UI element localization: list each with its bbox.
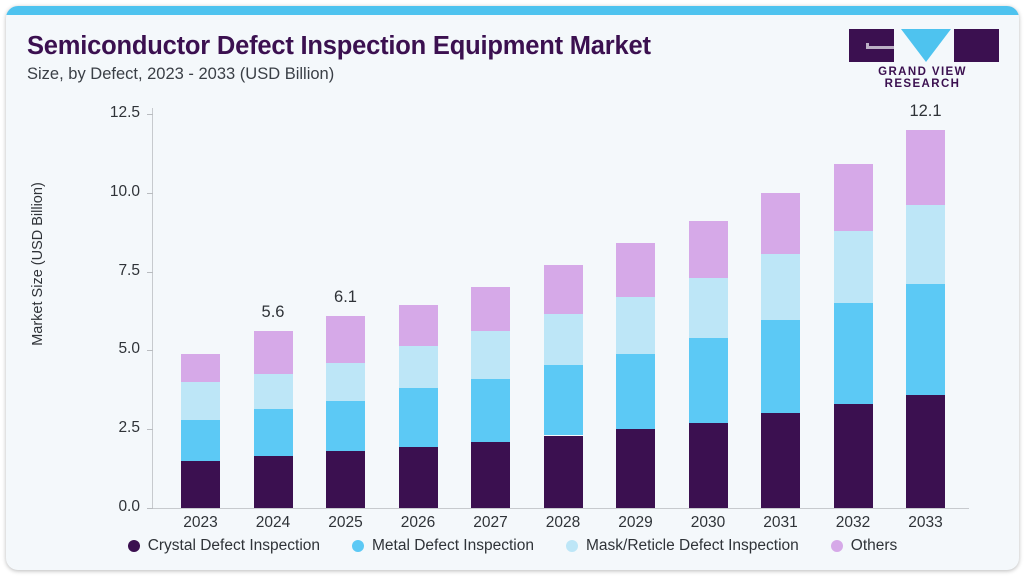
bar-value-label: 12.1 [886, 102, 966, 121]
bar-segment[interactable] [906, 284, 945, 394]
bar-group[interactable] [326, 6, 365, 508]
bar-segment[interactable] [254, 456, 293, 508]
bar-segment[interactable] [544, 365, 583, 436]
x-axis-tick-label: 2033 [886, 514, 966, 532]
y-axis-tick-mark [147, 272, 153, 273]
x-axis-tick-label: 2023 [161, 514, 241, 532]
bar-group[interactable] [616, 6, 655, 508]
bar-segment[interactable] [181, 382, 220, 420]
x-axis-tick-label: 2032 [813, 514, 893, 532]
legend-label: Mask/Reticle Defect Inspection [586, 537, 799, 555]
bar-segment[interactable] [906, 130, 945, 206]
bar-segment[interactable] [254, 374, 293, 409]
bar-segment[interactable] [399, 305, 438, 346]
bar-group[interactable] [399, 6, 438, 508]
bar-group[interactable] [181, 6, 220, 508]
bar-segment[interactable] [471, 331, 510, 378]
legend-color-dot-icon [352, 540, 364, 552]
bar-segment[interactable] [616, 354, 655, 430]
x-axis-tick-label: 2030 [668, 514, 748, 532]
y-axis-tick-label: 10.0 [80, 183, 140, 201]
y-axis-tick-label: 5.0 [80, 340, 140, 358]
legend-color-dot-icon [128, 540, 140, 552]
legend-label: Metal Defect Inspection [372, 537, 534, 555]
bar-segment[interactable] [834, 404, 873, 508]
bar-segment[interactable] [471, 287, 510, 331]
bar-segment[interactable] [326, 451, 365, 508]
bar-segment[interactable] [761, 413, 800, 508]
x-axis-tick-label: 2024 [233, 514, 313, 532]
legend-label: Crystal Defect Inspection [148, 537, 320, 555]
y-axis-tick-mark [147, 350, 153, 351]
bar-value-label: 6.1 [306, 288, 386, 307]
y-axis-tick-mark [147, 429, 153, 430]
chart-plot-area: Market Size (USD Billion) 0.02.55.07.510… [6, 6, 1019, 570]
legend-label: Others [851, 537, 898, 555]
y-axis-tick-mark [147, 193, 153, 194]
bar-segment[interactable] [399, 346, 438, 389]
x-axis-tick-label: 2031 [741, 514, 821, 532]
bar-segment[interactable] [616, 243, 655, 297]
bar-segment[interactable] [689, 278, 728, 338]
x-axis-tick-label: 2029 [596, 514, 676, 532]
y-axis-tick-label: 12.5 [80, 104, 140, 122]
y-axis-tick-mark [147, 508, 153, 509]
x-axis-line [152, 508, 969, 509]
legend-color-dot-icon [566, 540, 578, 552]
bar-segment[interactable] [326, 401, 365, 451]
bar-segment[interactable] [689, 423, 728, 508]
bar-segment[interactable] [906, 205, 945, 284]
bar-group[interactable] [544, 6, 583, 508]
bar-segment[interactable] [544, 436, 583, 508]
bar-segment[interactable] [399, 447, 438, 508]
bar-group[interactable] [761, 6, 800, 508]
bar-segment[interactable] [181, 461, 220, 508]
bar-segment[interactable] [254, 409, 293, 456]
legend-color-dot-icon [831, 540, 843, 552]
legend-item[interactable]: Mask/Reticle Defect Inspection [566, 537, 799, 555]
bar-segment[interactable] [399, 388, 438, 446]
legend-item[interactable]: Crystal Defect Inspection [128, 537, 320, 555]
bar-segment[interactable] [326, 363, 365, 401]
bar-segment[interactable] [471, 442, 510, 508]
chart-card: Semiconductor Defect Inspection Equipmen… [6, 6, 1019, 570]
bar-group[interactable] [906, 6, 945, 508]
chart-legend: Crystal Defect InspectionMetal Defect In… [6, 537, 1019, 555]
bar-segment[interactable] [544, 265, 583, 314]
bar-group[interactable] [254, 6, 293, 508]
y-axis-line [152, 108, 153, 509]
bar-segment[interactable] [616, 429, 655, 508]
bar-group[interactable] [689, 6, 728, 508]
bar-segment[interactable] [906, 395, 945, 508]
bar-segment[interactable] [761, 320, 800, 413]
bar-segment[interactable] [689, 221, 728, 278]
bar-segment[interactable] [761, 254, 800, 320]
bar-segment[interactable] [834, 303, 873, 404]
bar-segment[interactable] [471, 379, 510, 442]
y-axis-title: Market Size (USD Billion) [30, 114, 46, 414]
y-axis-tick-label: 2.5 [80, 419, 140, 437]
bar-segment[interactable] [254, 331, 293, 374]
bar-segment[interactable] [181, 354, 220, 382]
x-axis-tick-label: 2027 [451, 514, 531, 532]
bar-segment[interactable] [616, 297, 655, 354]
bar-segment[interactable] [834, 231, 873, 303]
legend-item[interactable]: Others [831, 537, 898, 555]
bar-segment[interactable] [326, 316, 365, 363]
bar-segment[interactable] [689, 338, 728, 423]
x-axis-tick-label: 2028 [523, 514, 603, 532]
bar-segment[interactable] [834, 164, 873, 230]
bar-segment[interactable] [544, 314, 583, 364]
bar-segment[interactable] [761, 193, 800, 254]
x-axis-tick-label: 2026 [378, 514, 458, 532]
y-axis-tick-mark [147, 114, 153, 115]
bar-group[interactable] [471, 6, 510, 508]
x-axis-tick-label: 2025 [306, 514, 386, 532]
y-axis-tick-label: 7.5 [80, 262, 140, 280]
bar-group[interactable] [834, 6, 873, 508]
y-axis-tick-label: 0.0 [80, 498, 140, 516]
bar-segment[interactable] [181, 420, 220, 461]
bar-value-label: 5.6 [233, 303, 313, 322]
legend-item[interactable]: Metal Defect Inspection [352, 537, 534, 555]
